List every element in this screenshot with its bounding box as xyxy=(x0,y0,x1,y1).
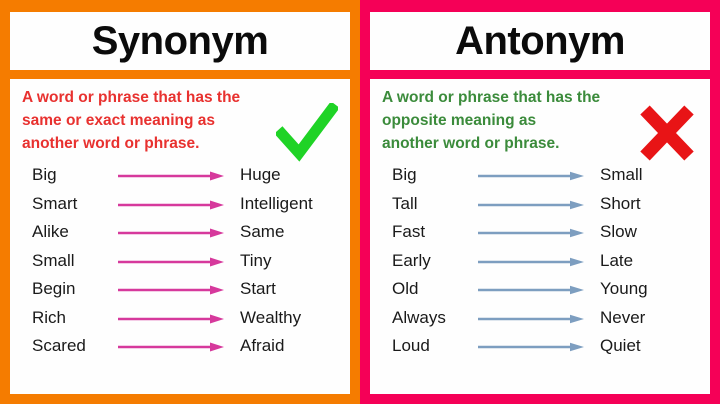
word-to: Young xyxy=(588,279,710,299)
antonym-body-card: A word or phrase that has the opposite m… xyxy=(370,79,710,394)
arrow-icon xyxy=(476,283,588,295)
list-item: Begin Start xyxy=(10,275,350,304)
list-item: Big Huge xyxy=(10,161,350,190)
arrow-icon xyxy=(116,169,228,181)
check-mark-icon xyxy=(276,103,338,163)
list-item: Fast Slow xyxy=(370,218,710,247)
word-from: Loud xyxy=(392,336,476,356)
word-to: Never xyxy=(588,308,710,328)
word-from: Tall xyxy=(392,194,476,214)
antonym-title-card: Antonym xyxy=(370,12,710,70)
cross-mark-icon xyxy=(636,103,698,163)
word-to: Huge xyxy=(228,165,350,185)
list-item: Big Small xyxy=(370,161,710,190)
word-from: Big xyxy=(32,165,116,185)
arrow-icon xyxy=(116,340,228,352)
arrow-icon xyxy=(116,226,228,238)
word-to: Wealthy xyxy=(228,308,350,328)
word-from: Smart xyxy=(32,194,116,214)
list-item: Rich Wealthy xyxy=(10,304,350,333)
word-from: Begin xyxy=(32,279,116,299)
word-to: Afraid xyxy=(228,336,350,356)
arrow-icon xyxy=(476,340,588,352)
word-to: Same xyxy=(228,222,350,242)
word-from: Old xyxy=(392,279,476,299)
list-item: Old Young xyxy=(370,275,710,304)
list-item: Small Tiny xyxy=(10,247,350,276)
list-item: Early Late xyxy=(370,247,710,276)
synonym-body-card: A word or phrase that has the same or ex… xyxy=(10,79,350,394)
word-from: Scared xyxy=(32,336,116,356)
arrow-icon xyxy=(476,169,588,181)
list-item: Smart Intelligent xyxy=(10,190,350,219)
word-to: Late xyxy=(588,251,710,271)
word-from: Fast xyxy=(392,222,476,242)
word-to: Slow xyxy=(588,222,710,242)
arrow-icon xyxy=(116,312,228,324)
arrow-icon xyxy=(476,255,588,267)
word-from: Small xyxy=(32,251,116,271)
word-to: Tiny xyxy=(228,251,350,271)
antonym-pair-list: Big Small Tall xyxy=(370,161,710,361)
list-item: Scared Afraid xyxy=(10,332,350,361)
list-item: Tall Short xyxy=(370,190,710,219)
page-title: Antonym xyxy=(455,21,625,61)
word-from: Rich xyxy=(32,308,116,328)
synonym-pair-list: Big Huge Smart xyxy=(10,161,350,361)
word-from: Alike xyxy=(32,222,116,242)
word-from: Early xyxy=(392,251,476,271)
antonym-panel: Antonym A word or phrase that has the op… xyxy=(360,0,720,404)
list-item: Always Never xyxy=(370,304,710,333)
arrow-icon xyxy=(476,226,588,238)
list-item: Alike Same xyxy=(10,218,350,247)
word-to: Quiet xyxy=(588,336,710,356)
word-to: Short xyxy=(588,194,710,214)
page-title: Synonym xyxy=(92,21,269,61)
word-from: Big xyxy=(392,165,476,185)
word-to: Small xyxy=(588,165,710,185)
arrow-icon xyxy=(116,283,228,295)
arrow-icon xyxy=(476,198,588,210)
arrow-icon xyxy=(116,198,228,210)
word-to: Intelligent xyxy=(228,194,350,214)
arrow-icon xyxy=(476,312,588,324)
comparison-board: Synonym A word or phrase that has the sa… xyxy=(0,0,720,404)
synonym-title-card: Synonym xyxy=(10,12,350,70)
word-from: Always xyxy=(392,308,476,328)
list-item: Loud Quiet xyxy=(370,332,710,361)
synonym-panel: Synonym A word or phrase that has the sa… xyxy=(0,0,360,404)
word-to: Start xyxy=(228,279,350,299)
arrow-icon xyxy=(116,255,228,267)
